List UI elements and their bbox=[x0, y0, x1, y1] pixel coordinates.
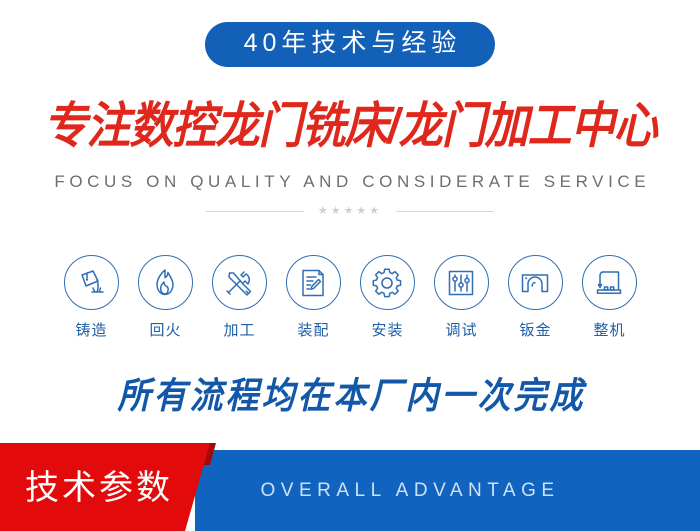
process-label: 调试 bbox=[444, 319, 477, 340]
experience-badge: 40年技术与经验 bbox=[205, 22, 496, 67]
tagline: 所有流程均在本厂内一次完成 bbox=[0, 366, 700, 419]
process-label: 钣金 bbox=[518, 319, 551, 340]
sliders-icon bbox=[434, 255, 489, 310]
process-label: 加工 bbox=[222, 319, 255, 340]
subtitle: FOCUS ON QUALITY AND CONSIDERATE SERVICE bbox=[0, 172, 700, 192]
badge-row: 40年技术与经验 bbox=[0, 22, 700, 67]
process-label: 铸造 bbox=[74, 319, 107, 340]
gear-icon bbox=[360, 255, 415, 310]
process-label: 安装 bbox=[370, 319, 403, 340]
process-item-casting[interactable]: 铸造 bbox=[58, 255, 125, 340]
gantry-machine-icon bbox=[582, 255, 637, 310]
casting-ladle-icon bbox=[64, 255, 119, 310]
sheet-metal-bend-icon bbox=[508, 255, 563, 310]
section-ribbon: OVERALL ADVANTAGE 技术参数 bbox=[0, 435, 700, 531]
process-item-debugging[interactable]: 调试 bbox=[428, 255, 495, 340]
process-item-sheet-metal[interactable]: 钣金 bbox=[502, 255, 569, 340]
process-label: 装配 bbox=[296, 319, 329, 340]
process-label: 回火 bbox=[148, 319, 181, 340]
process-item-installation[interactable]: 安装 bbox=[354, 255, 421, 340]
divider-line-left bbox=[206, 211, 304, 212]
star-divider: ★★★★★ bbox=[0, 206, 700, 217]
process-item-assembly[interactable]: 装配 bbox=[280, 255, 347, 340]
ribbon-title-cn: 技术参数 bbox=[22, 471, 173, 505]
document-tool-icon bbox=[286, 255, 341, 310]
wrench-screwdriver-icon bbox=[212, 255, 267, 310]
flame-icon bbox=[138, 255, 193, 310]
divider-line-right bbox=[396, 211, 494, 212]
ribbon-blue-band: OVERALL ADVANTAGE bbox=[195, 450, 700, 531]
process-item-complete-machine[interactable]: 整机 bbox=[576, 255, 643, 340]
process-item-machining[interactable]: 加工 bbox=[206, 255, 273, 340]
page-title: 专注数控龙门铣床/龙门加工中心 bbox=[0, 101, 700, 153]
promo-banner: 40年技术与经验 专注数控龙门铣床/龙门加工中心 FOCUS ON QUALIT… bbox=[0, 0, 700, 531]
process-label: 整机 bbox=[592, 319, 625, 340]
process-icon-row: 铸造 回火 加工 bbox=[0, 255, 700, 340]
star-rating-icon: ★★★★★ bbox=[318, 206, 382, 217]
ribbon-subtitle-en: OVERALL ADVANTAGE bbox=[255, 480, 560, 502]
process-item-tempering[interactable]: 回火 bbox=[132, 255, 199, 340]
